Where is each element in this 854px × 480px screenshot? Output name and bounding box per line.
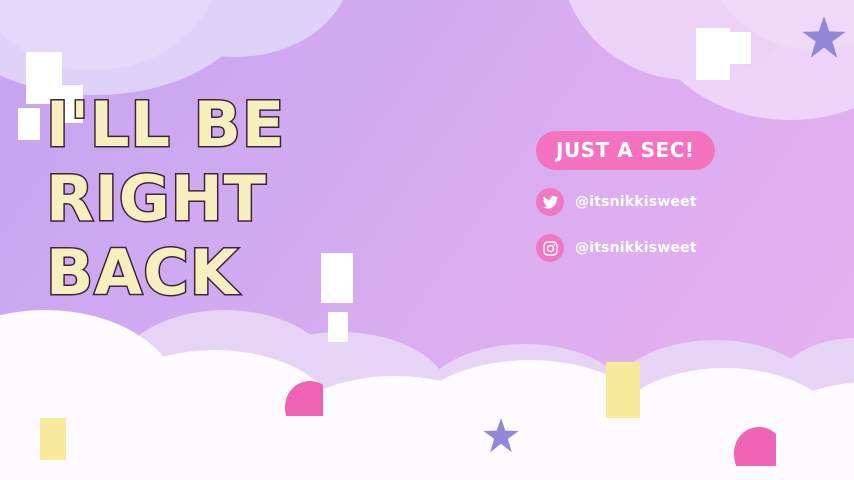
social-row-instagram[interactable]: @itsnikkisweet [536,234,816,262]
instagram-icon[interactable] [536,234,564,262]
sparkle-icon [328,312,348,342]
twitter-handle: @itsnikkisweet [575,194,697,210]
star-icon [802,16,846,60]
star-icon [483,418,519,454]
brb-headline: I'LL BE RIGHT BACK [46,88,446,310]
status-badge: JUST A SEC! [536,131,715,170]
sparkle-icon [729,32,751,64]
headline-line-1: I'LL BE [46,88,446,162]
sparkle-icon [18,108,40,140]
brb-overlay-screen: I'LL BE RIGHT BACK JUST A SEC! @itsnikki… [0,0,854,480]
social-row-twitter[interactable]: @itsnikkisweet [536,188,816,216]
bottom-cloud-bank [0,300,854,480]
headline-line-2: RIGHT [46,162,446,236]
sparkle-icon [40,418,66,460]
sparkle-icon [606,362,640,418]
heart-icon [283,378,323,416]
cloud-base [0,436,854,480]
twitter-icon[interactable] [536,188,564,216]
headline-line-3: BACK [46,236,446,310]
instagram-handle: @itsnikkisweet [575,240,697,256]
sparkle-icon [696,28,730,80]
info-panel: JUST A SEC! @itsnikkisweet @itsnikkiswee… [536,131,816,262]
heart-icon [732,424,776,466]
